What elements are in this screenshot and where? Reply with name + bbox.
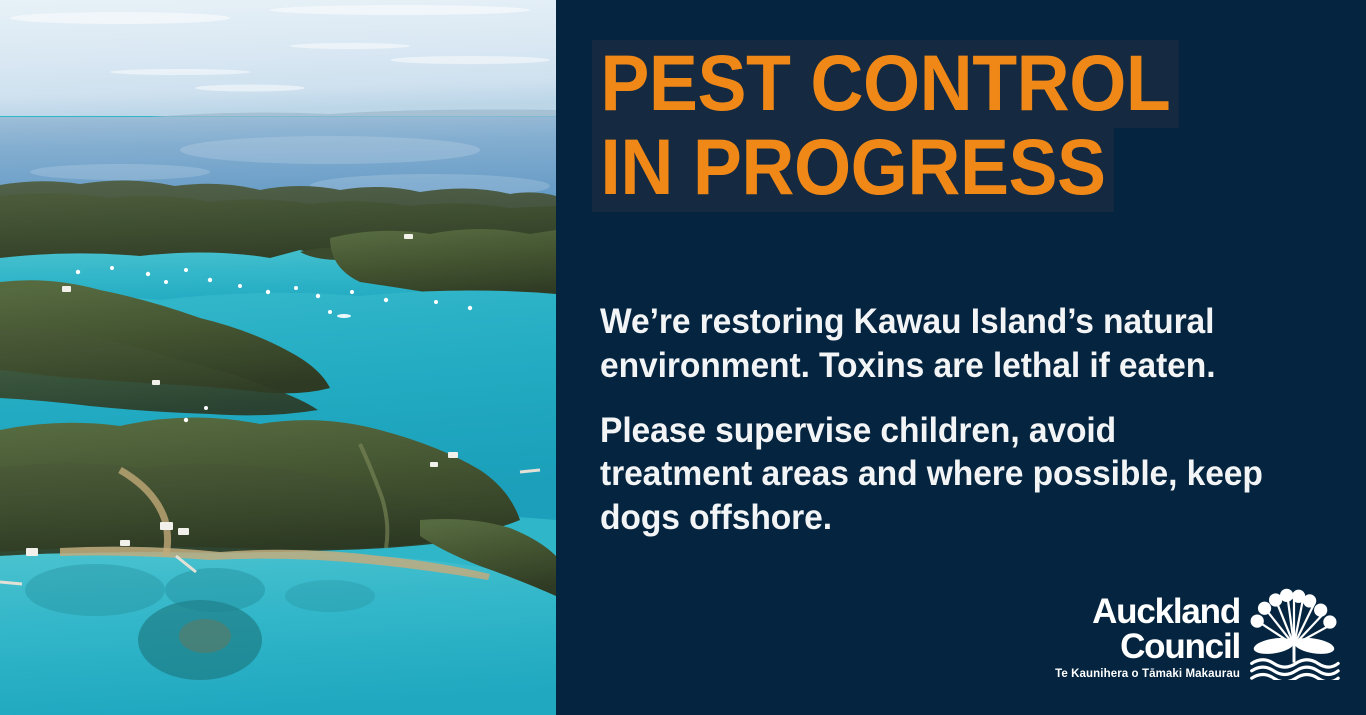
reef-patch-core (179, 619, 231, 653)
body-paragraph-1: We’re restoring Kawau Island’s natural e… (600, 300, 1272, 388)
kawau-island-aerial-photo (0, 0, 556, 715)
logo-word-council: Council (1055, 630, 1240, 664)
logo-word-auckland: Auckland (1055, 595, 1240, 629)
photo-illustration (0, 0, 556, 715)
body-paragraph-2: Please supervise children, avoid treatme… (600, 409, 1272, 540)
pohutukawa-flower-and-waves-icon (1248, 588, 1340, 680)
body-copy: We’re restoring Kawau Island’s natural e… (600, 300, 1300, 540)
logo-tagline: Te Kaunihera o Tāmaki Makaurau (1055, 668, 1240, 680)
auckland-council-logo: Auckland Council Te Kaunihera o Tāmaki M… (1055, 588, 1340, 680)
poster: PEST CONTROL IN PROGRESS We’re restoring… (0, 0, 1366, 715)
reef-patch-3 (25, 564, 165, 616)
headline-line-1: PEST CONTROL (592, 40, 1179, 128)
water-waves (1252, 660, 1338, 680)
headline-line-2: IN PROGRESS (592, 124, 1114, 212)
headline-row-2: IN PROGRESS (592, 124, 1212, 212)
reef-patch-2 (165, 568, 265, 612)
flower-stamens (1251, 589, 1337, 645)
message-panel: PEST CONTROL IN PROGRESS We’re restoring… (556, 0, 1366, 715)
headline: PEST CONTROL IN PROGRESS (592, 40, 1212, 208)
headline-row-1: PEST CONTROL (592, 40, 1212, 128)
flower-stem (1293, 639, 1296, 663)
reef-patch-4 (285, 580, 375, 612)
logo-wordmark: Auckland Council Te Kaunihera o Tāmaki M… (1055, 595, 1240, 680)
